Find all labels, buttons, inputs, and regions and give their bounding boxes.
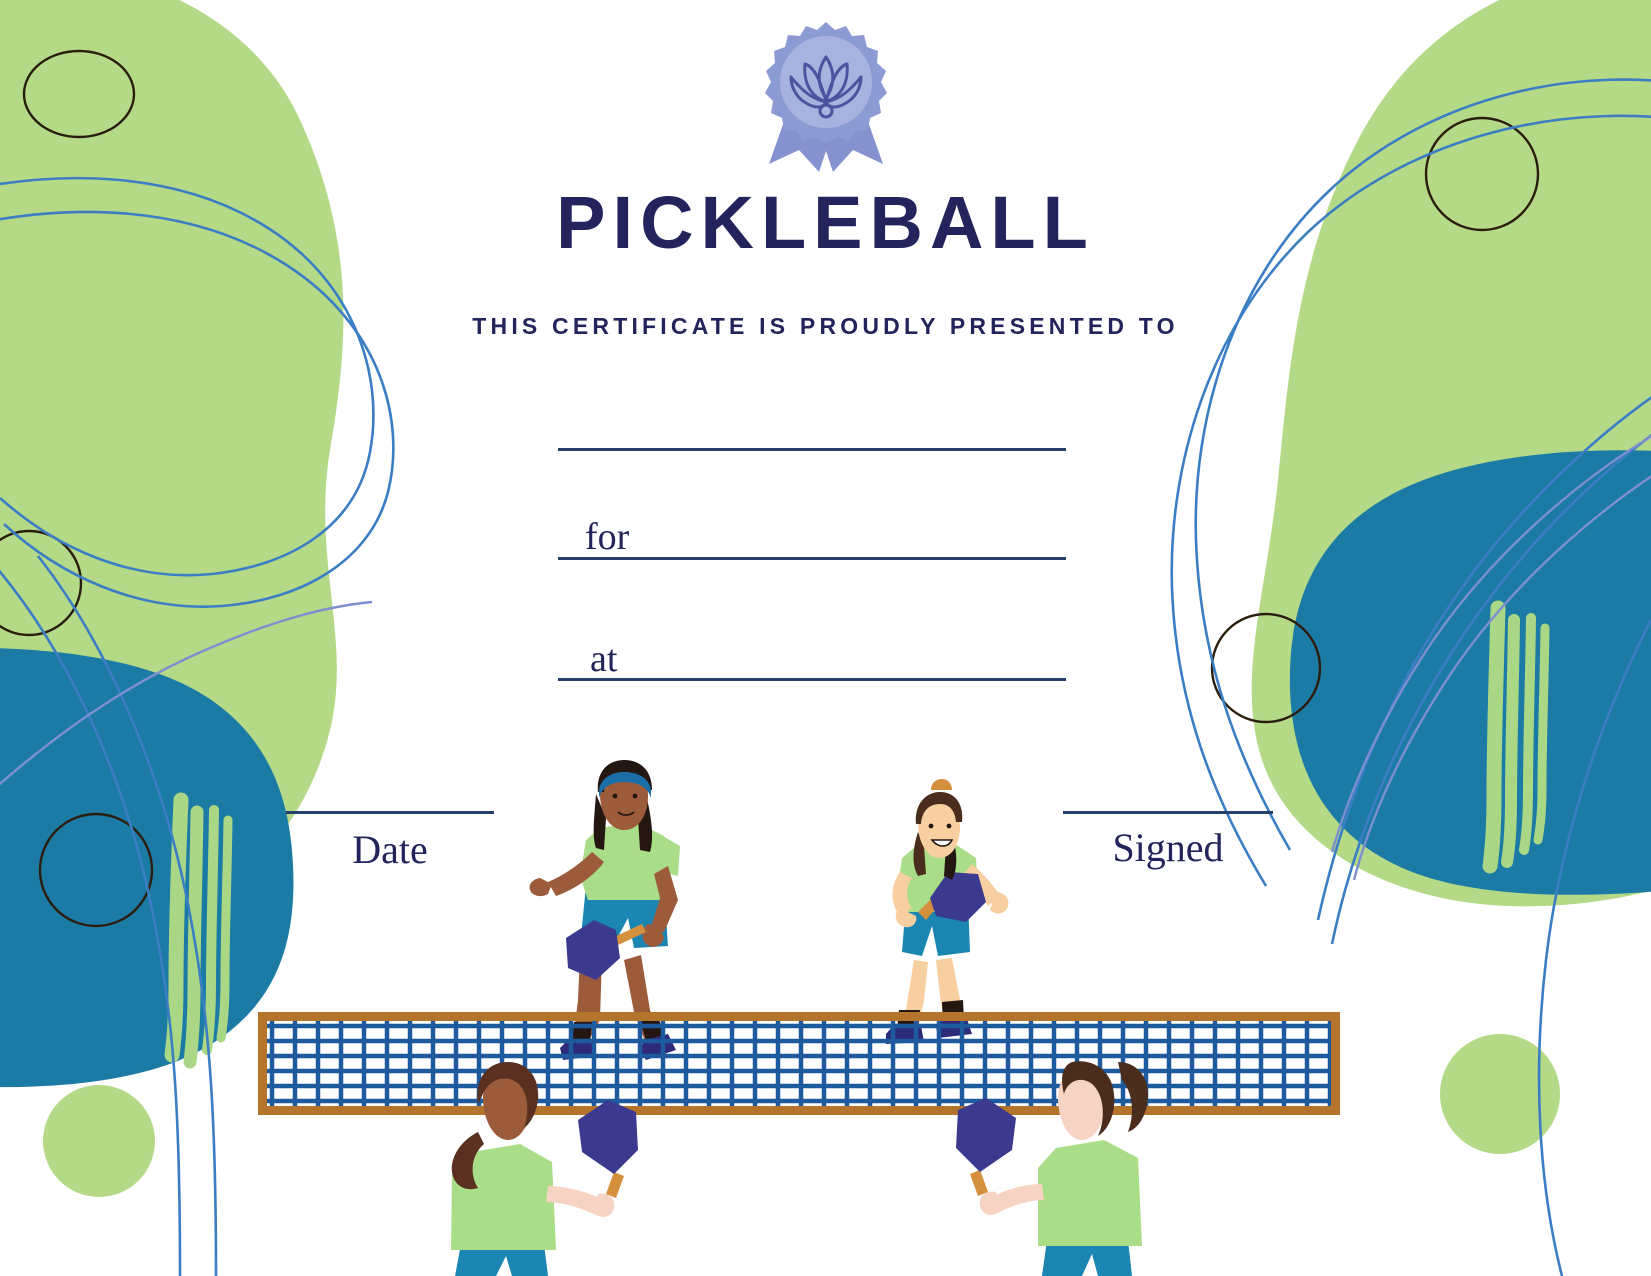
paddle [578,1100,638,1198]
pickleball-doubles-match-illustration [0,0,1651,1276]
hand [530,878,552,896]
net-mesh [262,1016,1337,1110]
player-front-left [451,1062,638,1276]
net-vertical-strands [272,1016,1330,1110]
shirt [1038,1140,1142,1246]
hair-bun [931,779,952,790]
pickleball-net [258,1012,1340,1115]
certificate-page: PICKLEBALL THIS CERTIFICATE IS PROUDLY P… [0,0,1651,1276]
player-back-right [886,779,1008,1044]
paddle [956,1098,1016,1196]
